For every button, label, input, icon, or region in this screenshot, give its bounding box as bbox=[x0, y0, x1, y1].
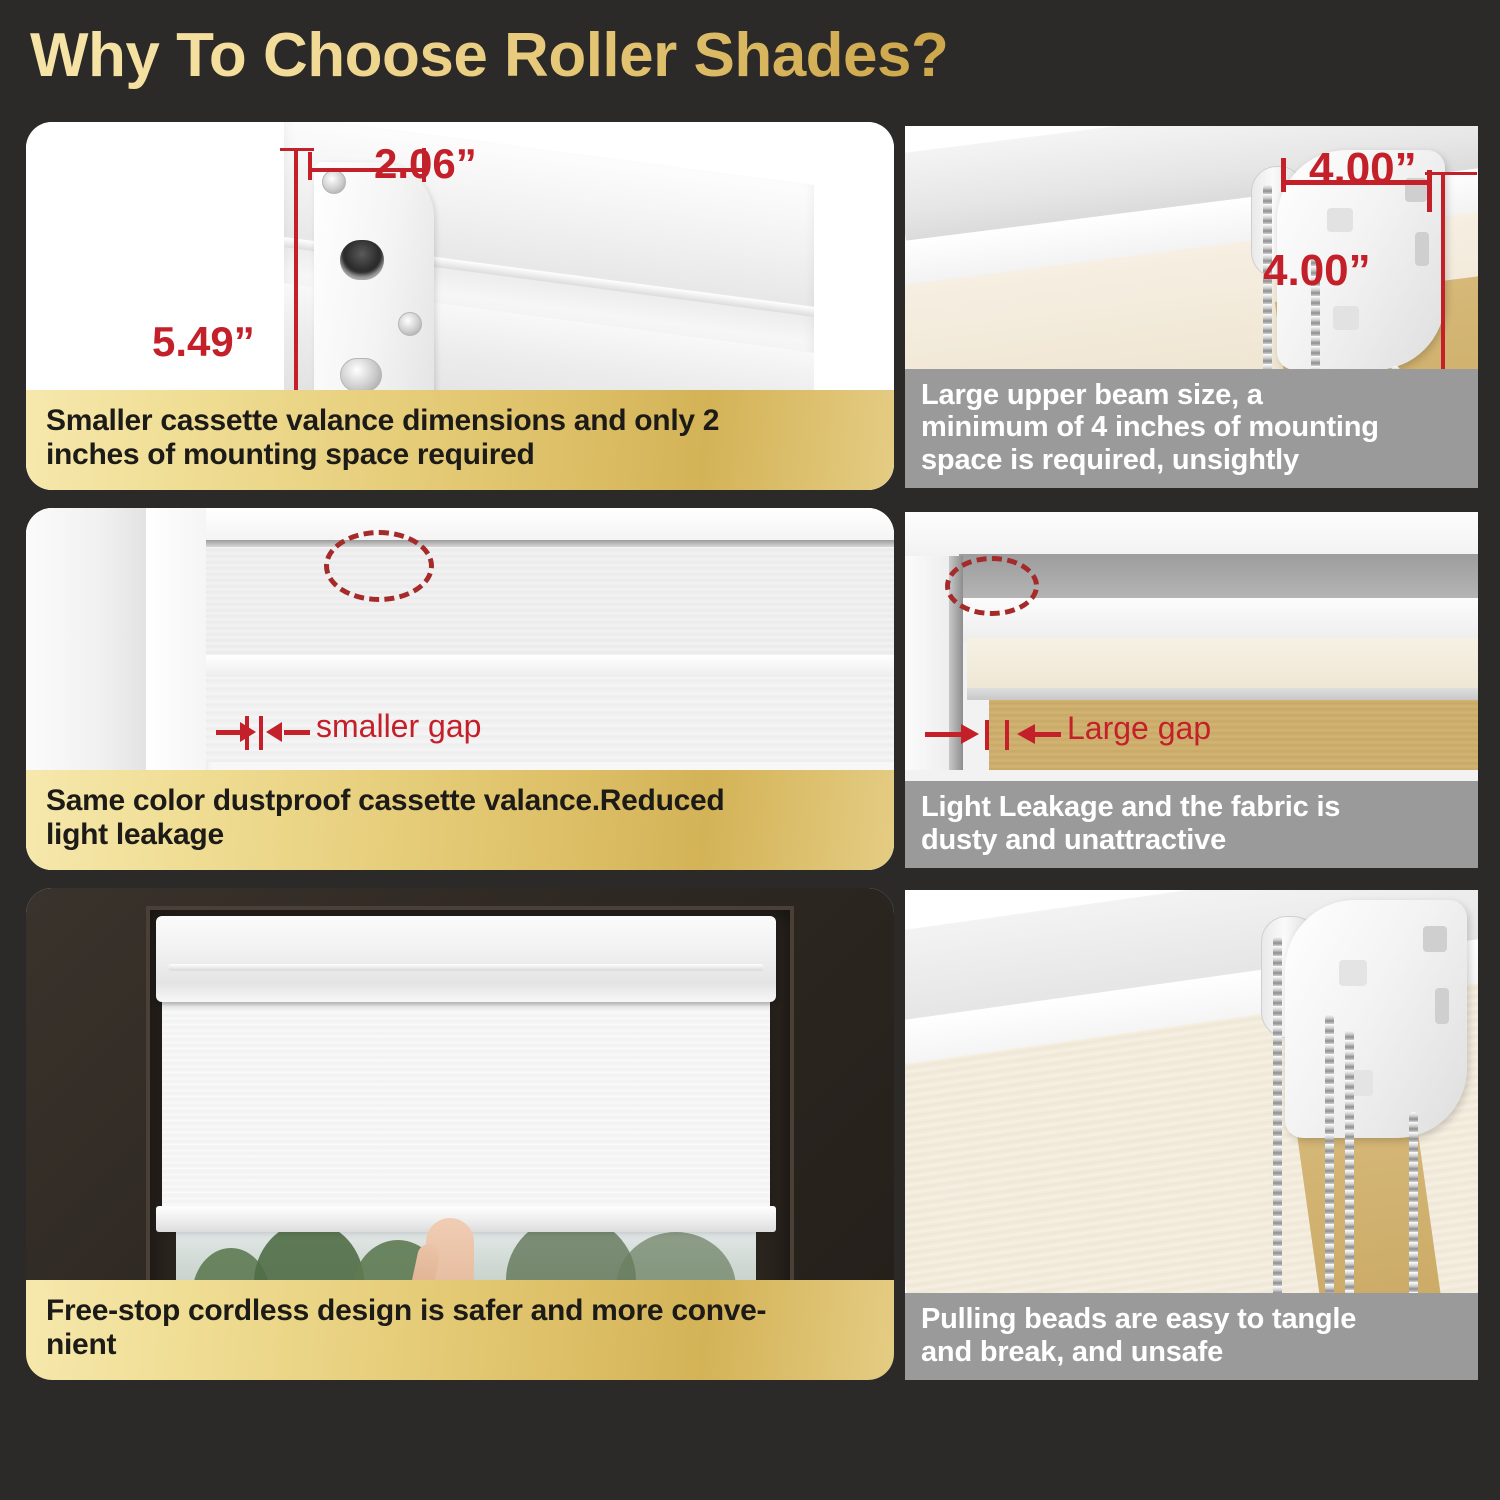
bracket-arrow-icon bbox=[1327, 208, 1353, 232]
panel-cordless-window: Free-stop cordless design is safer and m… bbox=[26, 888, 894, 1380]
cassette-valance bbox=[156, 916, 776, 1002]
panel-5-caption: Free-stop cordless design is safer and m… bbox=[26, 1280, 894, 1380]
gap-tick-right bbox=[1005, 720, 1009, 750]
gap-arrow-left-head bbox=[961, 724, 979, 744]
height-dimension-label: 5.49” bbox=[152, 318, 255, 366]
bracket-slot bbox=[1415, 232, 1429, 266]
panel-smaller-gap: smaller gap Same color dustproof cassett… bbox=[26, 508, 894, 870]
height-dim-tick-top bbox=[280, 148, 314, 151]
caption-line: Pulling beads are easy to tangle bbox=[921, 1303, 1462, 1335]
valance-bottom-edge bbox=[967, 688, 1478, 700]
caption-line: dusty and unattractive bbox=[921, 824, 1462, 856]
caption-line: Smaller cassette valance dimensions and … bbox=[46, 404, 874, 438]
gap-arrow-left-stem bbox=[216, 730, 242, 735]
frame-edge-light bbox=[905, 556, 949, 770]
panel-pulling-beads: Pulling beads are easy to tangle and bre… bbox=[905, 890, 1478, 1380]
panel-4-caption: Light Leakage and the fabric is dusty an… bbox=[905, 781, 1478, 868]
gap-tick-left bbox=[985, 720, 989, 750]
gap-tick-right bbox=[259, 716, 263, 750]
screw-icon bbox=[322, 170, 346, 194]
beam-white-band bbox=[959, 598, 1478, 642]
wall-strip bbox=[905, 512, 1478, 554]
panel-1-caption: Smaller cassette valance dimensions and … bbox=[26, 390, 894, 490]
caption-line: inches of mounting space required bbox=[46, 438, 874, 472]
gap-arrow-right-stem bbox=[284, 730, 310, 735]
valance-cream-band bbox=[967, 638, 1478, 688]
caption-line: Free-stop cordless design is safer and m… bbox=[46, 1294, 874, 1328]
panel-large-gap: Large gap Light Leakage and the fabric i… bbox=[905, 512, 1478, 868]
caption-line: Light Leakage and the fabric is bbox=[921, 791, 1462, 823]
panel-2-caption: Large upper beam size, a minimum of 4 in… bbox=[905, 369, 1478, 488]
gap-arrow-left-stem bbox=[925, 732, 963, 737]
valance-top-strip bbox=[206, 508, 894, 540]
valance-seam bbox=[206, 540, 894, 547]
shade-fabric bbox=[162, 1000, 770, 1228]
page-title: Why To Choose Roller Shades? bbox=[30, 16, 1230, 96]
screw-icon bbox=[398, 312, 422, 336]
large-gap-label: Large gap bbox=[1067, 710, 1211, 747]
width-dimension-label: 2.06” bbox=[374, 140, 477, 188]
gap-arrow-right-head bbox=[266, 722, 282, 742]
bracket-slot bbox=[1435, 988, 1449, 1024]
panel-large-upper-beam: 4.00” 4.00” Large upper beam size, a min… bbox=[905, 126, 1478, 488]
smaller-gap-label: smaller gap bbox=[316, 708, 481, 745]
gap-arrow-left-head bbox=[240, 722, 256, 742]
beam-width-label: 4.00” bbox=[1309, 144, 1417, 194]
gap-arrow-right-head bbox=[1017, 724, 1035, 744]
beam-height-label: 4.00” bbox=[1263, 246, 1371, 296]
panel-smaller-cassette: 2.06” 5.49” Smaller cassette valance dim… bbox=[26, 122, 894, 490]
shade-fabric-upper bbox=[206, 547, 894, 655]
roller-socket-icon bbox=[340, 240, 384, 280]
valance-mid-rail bbox=[206, 655, 894, 677]
caption-line: Same color dustproof cassette valance.Re… bbox=[46, 784, 874, 818]
width-dim-tick-left bbox=[308, 152, 312, 180]
gap-arrow-right-stem bbox=[1035, 732, 1061, 737]
tan-fabric bbox=[989, 700, 1478, 770]
caption-line: and break, and unsafe bbox=[921, 1336, 1462, 1368]
panel-3-caption: Same color dustproof cassette valance.Re… bbox=[26, 770, 894, 870]
bracket-arrow-icon bbox=[1333, 306, 1359, 330]
mounting-bracket bbox=[1285, 900, 1467, 1138]
shade-fabric-lower bbox=[206, 677, 894, 762]
beam-height-tick-top bbox=[1425, 172, 1477, 175]
bracket-clip-icon bbox=[340, 358, 382, 392]
beam-width-tick-right bbox=[1427, 170, 1432, 212]
panel-6-caption: Pulling beads are easy to tangle and bre… bbox=[905, 1293, 1478, 1380]
beam-width-tick-left bbox=[1281, 158, 1286, 192]
cassette-end-cap bbox=[314, 162, 434, 410]
bracket-arrow-icon bbox=[1339, 960, 1367, 986]
caption-line: nient bbox=[46, 1328, 874, 1362]
caption-line: minimum of 4 inches of mounting bbox=[921, 411, 1462, 443]
highlight-ellipse bbox=[324, 530, 434, 602]
infographic-root: Why To Choose Roller Shades? 2.06” 5.49” bbox=[0, 0, 1500, 1500]
highlight-ellipse bbox=[945, 556, 1039, 616]
beam-height-dim-line bbox=[1441, 172, 1445, 386]
bracket-slot bbox=[1423, 926, 1447, 952]
caption-line: light leakage bbox=[46, 818, 874, 852]
caption-line: space is required, unsightly bbox=[921, 444, 1462, 476]
caption-line: Large upper beam size, a bbox=[921, 379, 1462, 411]
